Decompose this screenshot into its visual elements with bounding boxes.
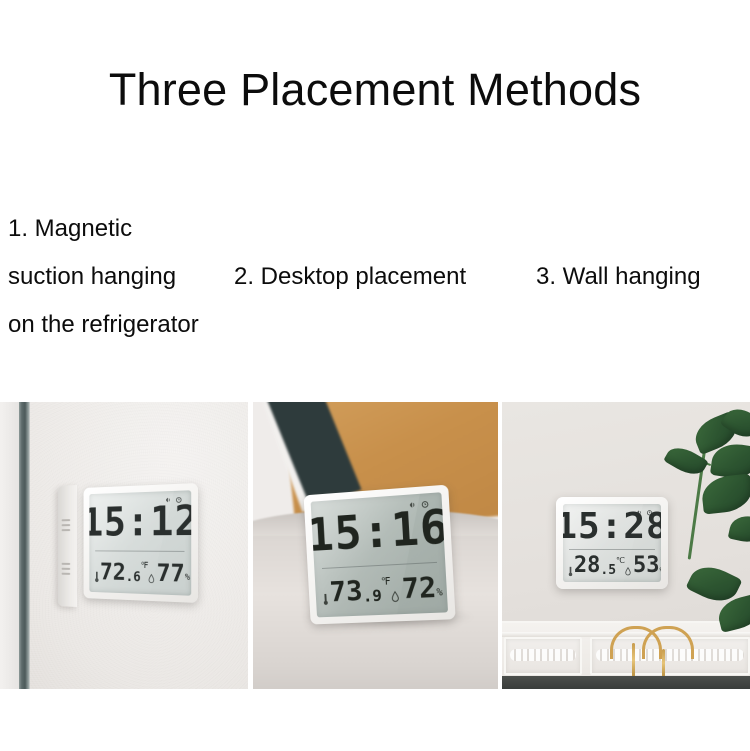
gold-stand-stem xyxy=(632,643,635,677)
clock-time-2: 15:16 xyxy=(311,503,448,558)
gold-stand-stem-2 xyxy=(662,649,665,677)
caption-magnetic-line-1: 1. Magnetic xyxy=(8,205,238,253)
clock-time-3: 15:28 xyxy=(563,509,661,545)
lcd-screen-2: 15:16 73 .9 ℉ xyxy=(311,492,448,617)
temperature-reading-1: 72 .6 ℉ xyxy=(94,560,148,585)
caption-wall: 3. Wall hanging xyxy=(536,253,701,301)
caption-desktop-line-1: 2. Desktop placement xyxy=(234,253,466,301)
caption-magnetic-line-3: on the refrigerator xyxy=(8,301,238,349)
device-side-profile xyxy=(58,485,77,607)
humidity-value-1: 77 xyxy=(157,561,185,586)
clock-device-3: 15:28 28 .5 ℃ xyxy=(556,497,668,589)
dark-counter xyxy=(502,676,750,689)
caption-wall-line-1: 3. Wall hanging xyxy=(536,253,701,301)
thermometer-icon xyxy=(322,592,329,607)
photo-desktop-table: 15:16 73 .9 ℉ xyxy=(253,402,498,689)
clock-device-1: 15:12 72 .6 ℉ xyxy=(84,483,198,603)
temperature-unit-2: ℉ xyxy=(381,578,391,588)
sensor-area-1: 72 .6 ℉ 77 % xyxy=(89,551,191,596)
humidity-reading-1: 77 % xyxy=(148,561,190,586)
humidity-unit-1: % xyxy=(185,574,190,583)
temperature-decimal-3: .5 xyxy=(600,564,616,577)
temperature-unit-3: ℃ xyxy=(616,557,625,565)
lcd-screen-3: 15:28 28 .5 ℃ xyxy=(563,504,661,582)
time-area-2: 15:16 xyxy=(311,492,446,569)
captions-group: 1. Magnetic suction hanging on the refri… xyxy=(0,205,750,375)
humidity-unit-2: % xyxy=(436,588,443,598)
humidity-reading-2: 72 % xyxy=(390,573,443,604)
photo-magnetic-fridge: 15:12 72 .6 ℉ xyxy=(0,402,248,689)
time-area-3: 15:28 xyxy=(563,504,661,549)
temperature-unit-1: ℉ xyxy=(141,562,149,571)
thermometer-icon xyxy=(94,570,99,583)
caption-magnetic-line-2: suction hanging xyxy=(8,253,238,301)
temperature-value-3: 28 xyxy=(574,555,601,577)
temperature-decimal-2: .9 xyxy=(362,588,382,605)
temperature-value-2: 73 xyxy=(329,577,363,606)
photo-strip: 15:12 72 .6 ℉ xyxy=(0,402,750,689)
clock-device-2: 15:16 73 .9 ℉ xyxy=(304,485,456,625)
water-drop-icon xyxy=(625,566,631,577)
door-jamb xyxy=(0,402,19,689)
clock-time-1: 15:12 xyxy=(89,500,191,542)
temperature-value-1: 72 xyxy=(100,560,126,584)
sensor-area-3: 28 .5 ℃ 53 % xyxy=(563,549,661,582)
time-area-1: 15:12 xyxy=(89,490,191,551)
humidity-value-3: 53 xyxy=(633,555,660,577)
wainscot-panel-left xyxy=(504,637,582,675)
temperature-reading-2: 73 .9 ℉ xyxy=(321,576,392,607)
water-drop-icon xyxy=(391,590,400,603)
sensor-area-2: 73 .9 ℉ 72 % xyxy=(314,562,448,617)
page-title: Three Placement Methods xyxy=(0,64,750,116)
lcd-screen-1: 15:12 72 .6 ℉ xyxy=(89,490,191,595)
humidity-reading-3: 53 % xyxy=(625,555,661,577)
water-drop-icon xyxy=(148,573,154,585)
caption-magnetic: 1. Magnetic suction hanging on the refri… xyxy=(8,205,238,349)
humidity-value-2: 72 xyxy=(401,573,437,603)
humidity-unit-3: % xyxy=(660,567,661,575)
door-edge-shadow xyxy=(19,402,30,689)
temperature-reading-3: 28 .5 ℃ xyxy=(568,555,625,577)
caption-desktop: 2. Desktop placement xyxy=(234,253,466,301)
photo-wall-hanging: 15:28 28 .5 ℃ xyxy=(502,402,750,689)
thermometer-icon xyxy=(568,565,573,577)
temperature-decimal-1: .6 xyxy=(126,571,141,585)
